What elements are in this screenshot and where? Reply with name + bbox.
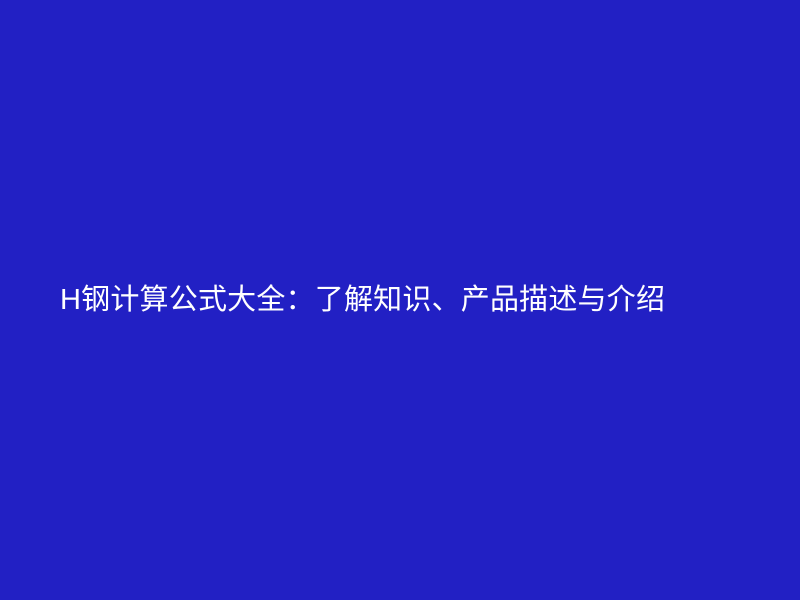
page-title: H钢计算公式大全：了解知识、产品描述与介绍 [60, 284, 665, 317]
title-banner: H钢计算公式大全：了解知识、产品描述与介绍 [0, 0, 800, 600]
